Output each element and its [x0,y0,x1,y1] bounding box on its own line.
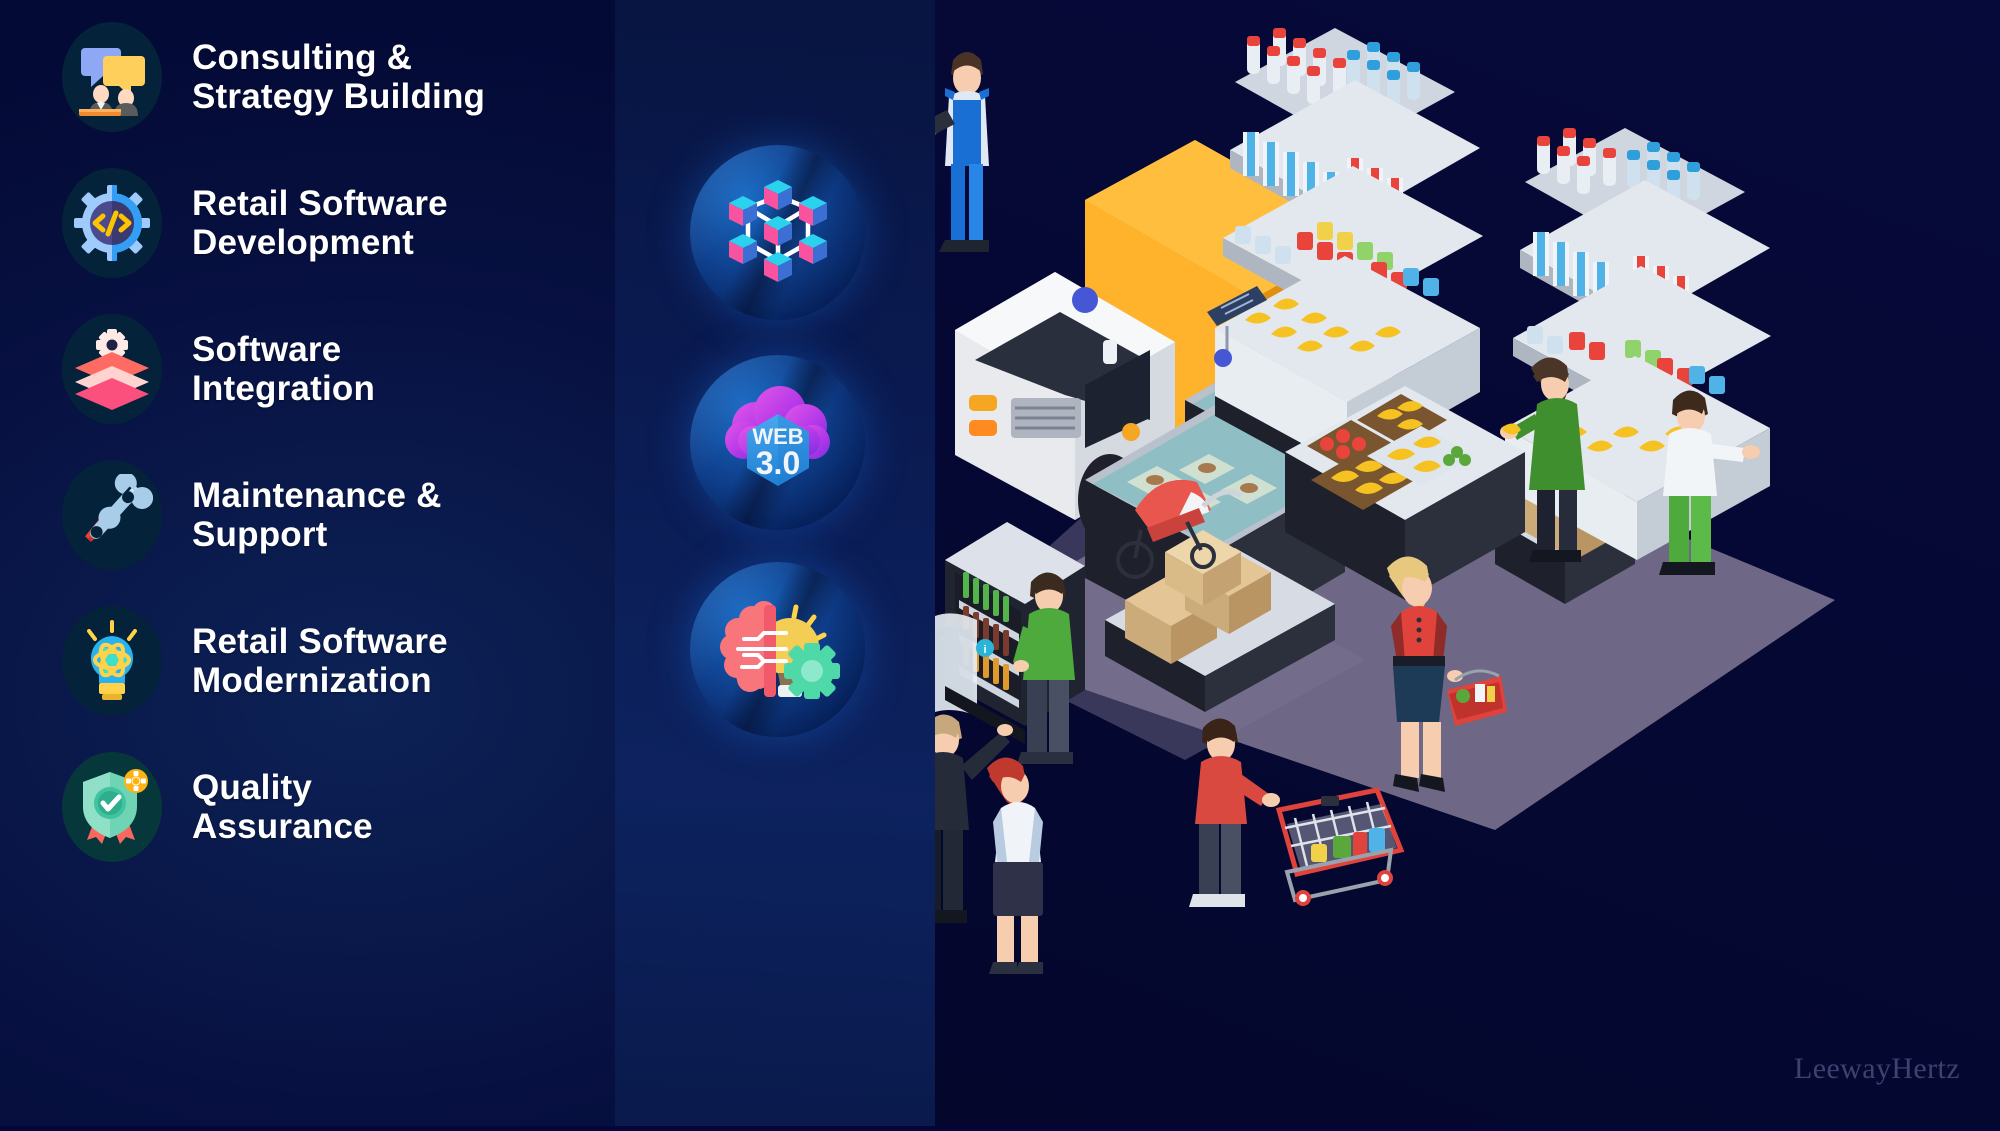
layers-gear-icon [62,314,162,424]
service-item-quality-assurance[interactable]: Quality Assurance [62,752,373,862]
gear-code-icon [62,168,162,278]
web3-label-line2: 3.0 [755,445,799,481]
watermark: LeewayHertz [1794,1052,1960,1086]
service-item-software-integration[interactable]: Software Integration [62,314,375,424]
lightbulb-atom-icon [62,606,162,716]
isometric-retail-store-scene: i [935,0,2000,1126]
brain-bulb-gear-ai-icon[interactable] [690,562,865,737]
blockchain-cubes-icon[interactable] [690,145,865,320]
service-item-retail-modernization[interactable]: Retail Software Modernization [62,606,448,716]
service-item-label: Quality Assurance [192,768,373,846]
service-item-label: Software Integration [192,330,375,408]
service-item-label: Retail Software Development [192,184,448,262]
service-item-label: Retail Software Modernization [192,622,448,700]
svg-text:i: i [983,644,986,656]
shield-check-badge-icon [62,752,162,862]
wrench-screwdriver-icon [62,460,162,570]
service-item-retail-software-dev[interactable]: Retail Software Development [62,168,448,278]
truck-driver-worker [935,52,989,252]
web3-cloud-icon[interactable]: WEB 3.0 [690,355,865,530]
service-item-label: Maintenance & Support [192,476,442,554]
service-item-label: Consulting & Strategy Building [192,38,485,116]
services-list: Consulting & Strategy Building [0,0,615,1126]
service-item-consulting-strategy[interactable]: Consulting & Strategy Building [62,22,485,132]
service-item-maintenance-support[interactable]: Maintenance & Support [62,460,442,570]
technology-badges-column: WEB 3.0 [615,0,935,1126]
speech-bubbles-meeting-icon [62,22,162,132]
